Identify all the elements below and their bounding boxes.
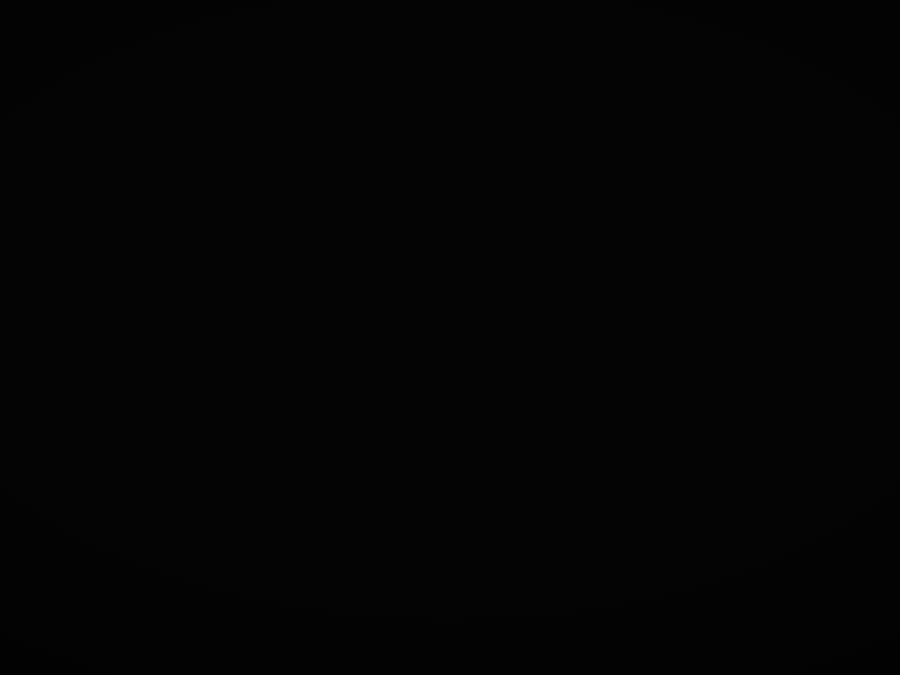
sprocket-hole [0, 543, 21, 570]
sprocket-hole [758, 131, 789, 158]
sprocket-hole [470, 134, 501, 161]
frame-marker-9a: 9A [0, 111, 18, 131]
film-frame-closeup: SAMPOERNA untuk Indonesia Stapa Sentra P… [513, 176, 900, 506]
sprocket-hole [710, 132, 741, 159]
sprocket-hole [518, 628, 549, 655]
sprocket-hole [38, 137, 69, 164]
sprocket-hole [854, 623, 885, 650]
sprocket-hole [518, 133, 549, 160]
sprocket-hole [278, 135, 309, 162]
sprocket-hole [326, 541, 357, 568]
sprocket-holes-top [0, 100, 900, 175]
film-frame-wide-shot: SAMPOERNA untuk Indonesia Stapa Sentra P… [11, 176, 500, 506]
sprocket-hole [710, 538, 741, 565]
sprocket-hole [326, 632, 357, 659]
sprocket-hole [86, 137, 117, 164]
frame-marker-3a: 3A [76, 608, 98, 628]
sprocket-hole [326, 135, 357, 162]
frame-marker-8a: 8A [513, 107, 535, 127]
sprocket-hole [614, 132, 645, 159]
sprocket-hole [374, 631, 405, 658]
gray-cap [668, 394, 744, 457]
sprocket-hole [86, 635, 117, 662]
sprocket-hole [86, 543, 117, 570]
audience-person [422, 384, 486, 503]
audience-person [753, 384, 807, 496]
sprocket-hole [422, 630, 453, 657]
sprocket-hole [614, 627, 645, 654]
sprocket-hole [662, 538, 693, 565]
sprocket-hole [566, 133, 597, 160]
frame-marker-9: 9 [193, 110, 203, 130]
filmstrip-scan: UNFOLD 6086 9A 9 8A 8 [0, 0, 900, 675]
sprocket-hole [134, 542, 165, 569]
sprocket-hole [806, 131, 837, 158]
sprocket-hole [566, 628, 597, 655]
sprocket-hole [134, 635, 165, 662]
frame-marker-2: 2 [785, 597, 795, 617]
sprocket-hole [134, 136, 165, 163]
sprocket-hole [806, 624, 837, 651]
seminar-hall-scene-closeup: SAMPOERNA untuk Indonesia Stapa Sentra P… [513, 176, 900, 506]
sprocket-hole [182, 136, 213, 163]
sprocket-hole [662, 132, 693, 159]
sprocket-hole [854, 131, 885, 158]
edge-print-top: UNFOLD 6086 [30, 32, 160, 47]
sprocket-hole [662, 626, 693, 653]
sprocket-hole [422, 540, 453, 567]
sprocket-hole [182, 634, 213, 661]
seminar-hall-scene-wide: SAMPOERNA untuk Indonesia Stapa Sentra P… [11, 176, 500, 506]
audience-person [153, 358, 197, 431]
audience-person [75, 387, 143, 506]
audience-person [211, 394, 279, 506]
sprocket-hole [0, 137, 21, 164]
audience-person [513, 400, 556, 506]
audience-person [334, 381, 393, 487]
frame-marker-8: 8 [706, 106, 716, 126]
sprocket-hole [230, 136, 261, 163]
audience-person [563, 374, 613, 473]
film-lower-rebate [0, 502, 900, 583]
audience-person [11, 374, 75, 506]
sprocket-holes-bottom [0, 589, 900, 674]
sprocket-hole [374, 134, 405, 161]
sprocket-hole [758, 625, 789, 652]
sprocket-hole [470, 629, 501, 656]
sprocket-hole [710, 625, 741, 652]
film-top-black-area [0, 0, 900, 104]
film-upper-rebate: 9A 9 8A 8 [0, 100, 900, 175]
sprocket-hole [758, 537, 789, 564]
frame-marker-2a: 2A [591, 599, 613, 619]
edge-print-bottom: UNFOLD 6086 [497, 549, 627, 564]
sprocket-hole [422, 134, 453, 161]
sprocket-hole [38, 543, 69, 570]
sprocket-hole [230, 542, 261, 569]
sprocket-hole [806, 537, 837, 564]
sprocket-hole [278, 632, 309, 659]
audience-person [823, 374, 885, 499]
frame-marker-3: 3 [276, 605, 286, 625]
sprocket-hole [374, 540, 405, 567]
sprocket-hole [38, 636, 69, 663]
sprocket-hole [278, 541, 309, 568]
film-bottom-rebate: 3A 3 2A 2 [0, 589, 900, 674]
sprocket-hole [182, 542, 213, 569]
sprocket-hole [230, 633, 261, 660]
sprocket-holes-middle [0, 502, 900, 583]
sprocket-hole [854, 537, 885, 564]
sprocket-hole [0, 637, 21, 664]
audience-person-with-cap [660, 394, 753, 506]
